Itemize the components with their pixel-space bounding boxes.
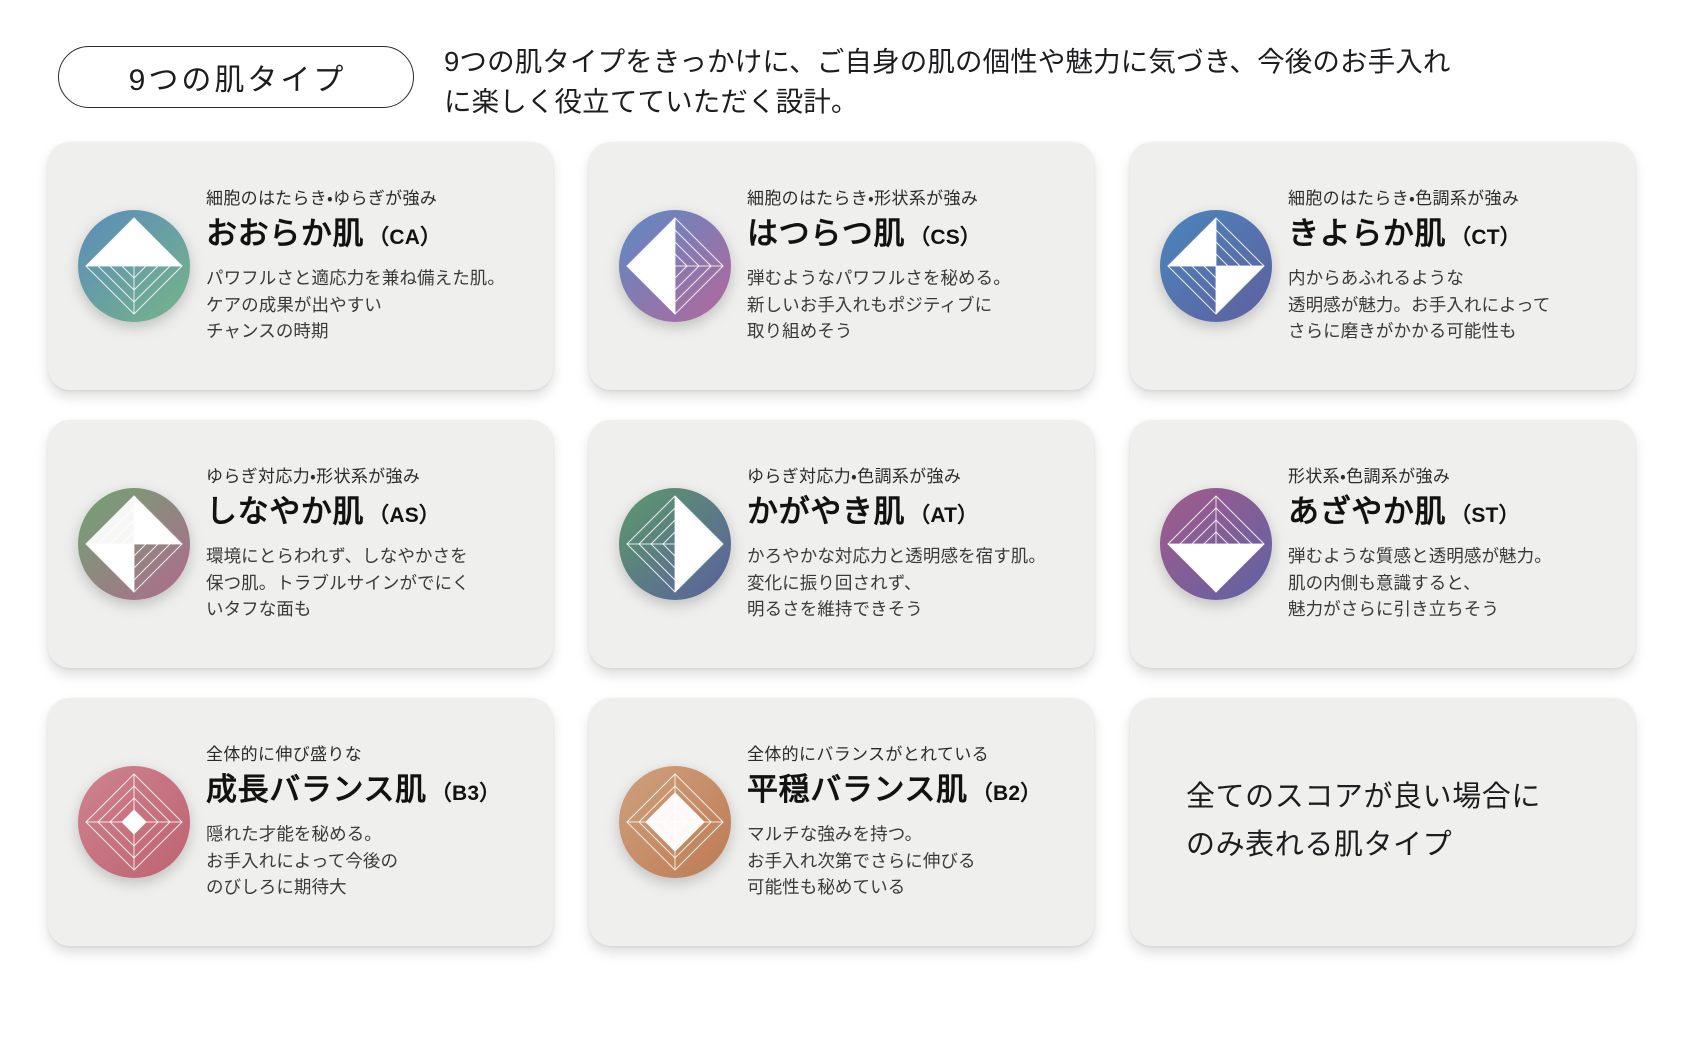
skin-type-icon-b2 <box>613 760 737 884</box>
skin-type-description-line: さらに磨きがかかる可能性も <box>1288 318 1617 345</box>
skin-type-name: あざやか肌 <box>1288 496 1446 529</box>
skin-type-kicker: 細胞のはたらき・ゆらぎが強み <box>206 189 535 209</box>
skin-type-description-line: 新しいお手入れもポジティブに <box>747 292 1076 319</box>
skin-type-name-row: 成長バランス肌 （B3） <box>206 774 535 807</box>
skin-type-name: はつらつ肌 <box>747 218 905 251</box>
skin-type-description-line: 可能性も秘めている <box>747 874 1076 901</box>
skin-type-description-line: 明るさを維持できそう <box>747 596 1076 623</box>
lead-line-2: に楽しく役立てていただく設計。 <box>444 82 1614 122</box>
skin-type-description-line: 変化に振り回されず、 <box>747 570 1076 597</box>
skin-type-description: 弾むような質感と透明感が魅力。肌の内側も意識すると、魅力がさらに引き立ちそう <box>1288 543 1617 623</box>
skin-type-code: （B3） <box>431 777 501 807</box>
skin-type-name-row: かがやき肌 （AT） <box>747 496 1076 529</box>
skin-type-card-text: ゆらぎ対応力・色調系が強み かがやき肌 （AT） かろやかな対応力と透明感を宿す… <box>747 465 1076 623</box>
skin-type-code: （CT） <box>1450 221 1521 251</box>
skin-type-infographic: 9つの肌タイプ 9つの肌タイプをきっかけに、ご自身の肌の個性や魅力に気づき、今後… <box>0 0 1691 1058</box>
skin-type-icon-cs <box>613 204 737 328</box>
skin-type-card[interactable]: 細胞のはたらき・色調系が強み きよらか肌 （CT） 内からあふれるような透明感が… <box>1130 142 1635 390</box>
skin-type-code: （CA） <box>368 221 441 251</box>
skin-type-kicker: 細胞のはたらき・色調系が強み <box>1288 189 1617 209</box>
skin-type-kicker: ゆらぎ対応力・形状系が強み <box>206 467 535 487</box>
skin-type-description: 弾むようなパワフルさを秘める。新しいお手入れもポジティブに取り組めそう <box>747 265 1076 345</box>
skin-type-kicker: ゆらぎ対応力・色調系が強み <box>747 467 1076 487</box>
skin-type-card-text: 形状系・色調系が強み あざやか肌 （ST） 弾むような質感と透明感が魅力。肌の内… <box>1288 465 1617 623</box>
skin-type-icon-ct <box>1154 204 1278 328</box>
page-lead-text: 9つの肌タイプをきっかけに、ご自身の肌の個性や魅力に気づき、今後のお手入れ に楽… <box>444 42 1614 122</box>
page-title: 9つの肌タイプ <box>126 55 347 99</box>
page-header: 9つの肌タイプ 9つの肌タイプをきっかけに、ご自身の肌の個性や魅力に気づき、今後… <box>44 30 1647 126</box>
skin-type-name-row: 平穏バランス肌 （B2） <box>747 774 1076 807</box>
skin-type-code: （B2） <box>972 777 1042 807</box>
skin-type-description: パワフルさと適応力を兼ね備えた肌。ケアの成果が出やすいチャンスの時期 <box>206 265 535 345</box>
skin-type-card[interactable]: 全体的にバランスがとれている 平穏バランス肌 （B2） マルチな強みを持つ。お手… <box>589 698 1094 946</box>
skin-type-icon-as <box>72 482 196 606</box>
skin-type-name-row: はつらつ肌 （CS） <box>747 218 1076 251</box>
skin-type-description-line: 肌の内側も意識すると、 <box>1288 570 1617 597</box>
skin-type-code: （AT） <box>909 499 978 529</box>
skin-type-description: 環境にとらわれず、しなやかさを保つ肌。トラブルサインがでにくいタフな面も <box>206 543 535 623</box>
skin-type-description-line: チャンスの時期 <box>206 318 535 345</box>
skin-type-description: 内からあふれるような透明感が魅力。お手入れによってさらに磨きがかかる可能性も <box>1288 265 1617 345</box>
skin-type-name-row: おおらか肌 （CA） <box>206 218 535 251</box>
skin-type-name-row: しなやか肌 （AS） <box>206 496 535 529</box>
skin-type-description-line: 環境にとらわれず、しなやかさを <box>206 543 535 570</box>
skin-type-name-row: あざやか肌 （ST） <box>1288 496 1617 529</box>
skin-type-description: マルチな強みを持つ。お手入れ次第でさらに伸びる可能性も秘めている <box>747 821 1076 901</box>
skin-type-code: （CS） <box>909 221 981 251</box>
skin-type-code: （AS） <box>368 499 440 529</box>
note-line-2: のみ表れる肌タイプ <box>1186 822 1541 870</box>
skin-type-kicker: 全体的に伸び盛りな <box>206 745 535 765</box>
skin-type-name: 成長バランス肌 <box>206 774 427 807</box>
skin-type-card[interactable]: 全体的に伸び盛りな 成長バランス肌 （B3） 隠れた才能を秘める。お手入れによっ… <box>48 698 553 946</box>
skin-type-description-line: いタフな面も <box>206 596 535 623</box>
skin-type-icon-b3 <box>72 760 196 884</box>
skin-type-name: しなやか肌 <box>206 496 364 529</box>
skin-type-description-line: 弾むような質感と透明感が魅力。 <box>1288 543 1617 570</box>
skin-type-description-line: 弾むようなパワフルさを秘める。 <box>747 265 1076 292</box>
skin-type-icon-st <box>1154 482 1278 606</box>
skin-type-card[interactable]: 細胞のはたらき・形状系が強み はつらつ肌 （CS） 弾むようなパワフルさを秘める… <box>589 142 1094 390</box>
skin-type-description-line: 透明感が魅力。お手入れによって <box>1288 292 1617 319</box>
skin-type-description-line: のびしろに期待大 <box>206 874 535 901</box>
skin-type-description-line: 魅力がさらに引き立ちそう <box>1288 596 1617 623</box>
skin-type-description-line: お手入れ次第でさらに伸びる <box>747 848 1076 875</box>
skin-type-card-text: ゆらぎ対応力・形状系が強み しなやか肌 （AS） 環境にとらわれず、しなやかさを… <box>206 465 535 623</box>
skin-type-icon-at <box>613 482 737 606</box>
skin-type-card-text: 細胞のはたらき・ゆらぎが強み おおらか肌 （CA） パワフルさと適応力を兼ね備え… <box>206 187 535 345</box>
page-title-badge: 9つの肌タイプ <box>58 46 414 108</box>
skin-type-description-line: ケアの成果が出やすい <box>206 292 535 319</box>
skin-type-description-line: マルチな強みを持つ。 <box>747 821 1076 848</box>
skin-type-card-text: 全体的に伸び盛りな 成長バランス肌 （B3） 隠れた才能を秘める。お手入れによっ… <box>206 743 535 901</box>
skin-type-card[interactable]: ゆらぎ対応力・色調系が強み かがやき肌 （AT） かろやかな対応力と透明感を宿す… <box>589 420 1094 668</box>
skin-type-kicker: 全体的にバランスがとれている <box>747 745 1076 765</box>
skin-type-name: おおらか肌 <box>206 218 364 251</box>
skin-type-card[interactable]: 細胞のはたらき・ゆらぎが強み おおらか肌 （CA） パワフルさと適応力を兼ね備え… <box>48 142 553 390</box>
skin-type-card[interactable]: 形状系・色調系が強み あざやか肌 （ST） 弾むような質感と透明感が魅力。肌の内… <box>1130 420 1635 668</box>
skin-type-card-text: 細胞のはたらき・色調系が強み きよらか肌 （CT） 内からあふれるような透明感が… <box>1288 187 1617 345</box>
skin-type-description-line: 取り組めそう <box>747 318 1076 345</box>
skin-type-card-text: 全体的にバランスがとれている 平穏バランス肌 （B2） マルチな強みを持つ。お手… <box>747 743 1076 901</box>
skin-type-description-line: かろやかな対応力と透明感を宿す肌。 <box>747 543 1076 570</box>
note-line-1: 全てのスコアが良い場合に <box>1186 774 1541 822</box>
skin-type-description-line: お手入れによって今後の <box>206 848 535 875</box>
skin-type-note-text: 全てのスコアが良い場合に のみ表れる肌タイプ <box>1186 774 1541 870</box>
skin-type-name: 平穏バランス肌 <box>747 774 968 807</box>
skin-type-kicker: 細胞のはたらき・形状系が強み <box>747 189 1076 209</box>
skin-type-description-line: パワフルさと適応力を兼ね備えた肌。 <box>206 265 535 292</box>
skin-type-name-row: きよらか肌 （CT） <box>1288 218 1617 251</box>
skin-type-description-line: 内からあふれるような <box>1288 265 1617 292</box>
skin-type-description-line: 隠れた才能を秘める。 <box>206 821 535 848</box>
skin-type-description: かろやかな対応力と透明感を宿す肌。変化に振り回されず、明るさを維持できそう <box>747 543 1076 623</box>
lead-line-1: 9つの肌タイプをきっかけに、ご自身の肌の個性や魅力に気づき、今後のお手入れ <box>444 46 1451 77</box>
skin-type-note-card: 全てのスコアが良い場合に のみ表れる肌タイプ <box>1130 698 1635 946</box>
skin-type-card-text: 細胞のはたらき・形状系が強み はつらつ肌 （CS） 弾むようなパワフルさを秘める… <box>747 187 1076 345</box>
skin-type-kicker: 形状系・色調系が強み <box>1288 467 1617 487</box>
skin-type-name: かがやき肌 <box>747 496 905 529</box>
skin-type-description: 隠れた才能を秘める。お手入れによって今後ののびしろに期待大 <box>206 821 535 901</box>
skin-type-code: （ST） <box>1450 499 1520 529</box>
skin-type-name: きよらか肌 <box>1288 218 1446 251</box>
skin-type-icon-ca <box>72 204 196 328</box>
skin-type-card-grid: 細胞のはたらき・ゆらぎが強み おおらか肌 （CA） パワフルさと適応力を兼ね備え… <box>44 142 1647 946</box>
skin-type-description-line: 保つ肌。トラブルサインがでにく <box>206 570 535 597</box>
skin-type-card[interactable]: ゆらぎ対応力・形状系が強み しなやか肌 （AS） 環境にとらわれず、しなやかさを… <box>48 420 553 668</box>
